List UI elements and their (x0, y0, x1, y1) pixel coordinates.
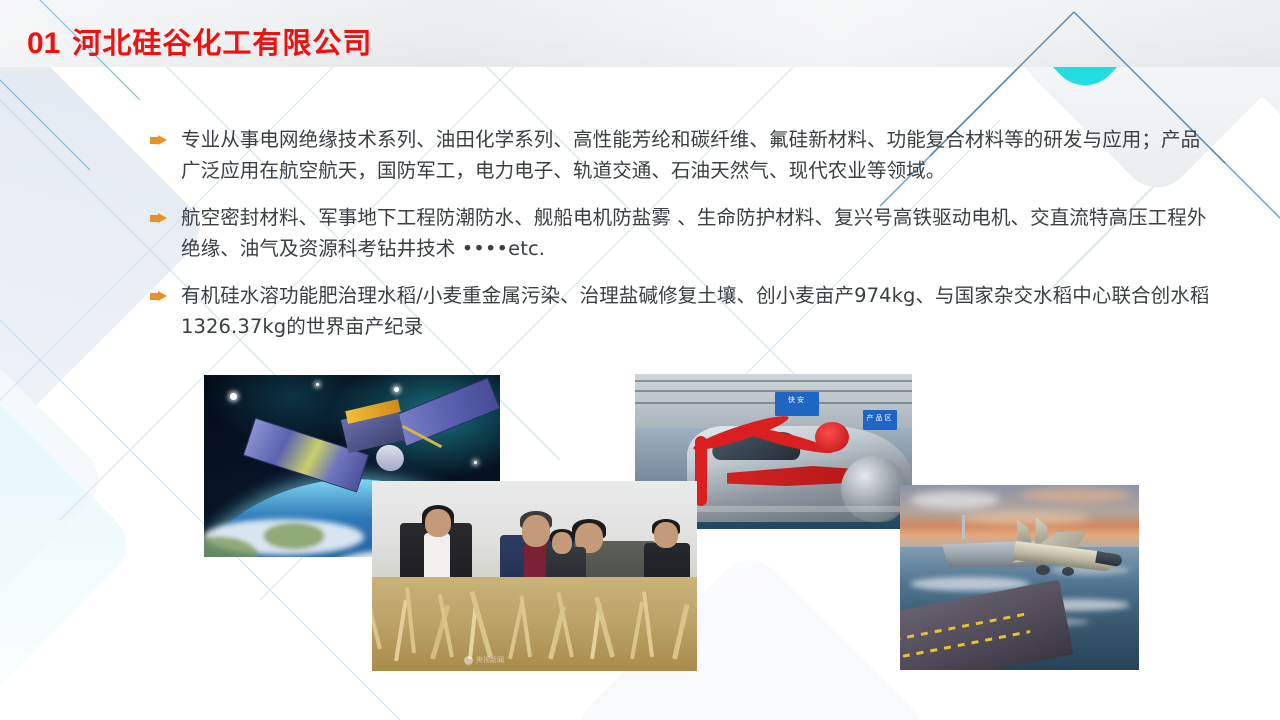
deck-centerline (900, 612, 1031, 642)
train-nose-dome (841, 456, 907, 522)
person-head (654, 522, 678, 548)
star-icon (230, 393, 237, 400)
factory-sign-label: 快安 (775, 392, 819, 405)
person-head (425, 509, 451, 537)
wheat-blade (672, 604, 689, 660)
ceiling-truss (635, 380, 912, 382)
ship-mast (962, 515, 965, 539)
wheat-blade (405, 587, 416, 653)
star-icon (474, 461, 477, 464)
wheat-blade (642, 591, 654, 657)
factory-sign: 产品区 (863, 410, 897, 430)
wheat-crop-field (372, 577, 697, 671)
ceiling-truss (635, 390, 912, 392)
person-head (552, 532, 572, 554)
factory-sign: 快安 (775, 392, 819, 416)
red-flower-decoration (815, 422, 849, 452)
rice-field-photo: 央视新闻 (372, 481, 697, 671)
fighter-jet (996, 517, 1116, 591)
jet-external-tank (1036, 565, 1050, 575)
watermark-logo-icon (464, 656, 473, 665)
slide-canvas: 01 河北硅谷化工有限公司 专业从事电网绝缘技术系列、油田化学系列、高性能芳纶和… (0, 0, 1280, 720)
ceiling-truss (635, 402, 912, 404)
aircraft-carrier-photo (900, 485, 1139, 670)
person-head (522, 515, 550, 547)
landmass (264, 523, 324, 549)
wheat-blade (394, 599, 408, 661)
star-icon (316, 383, 319, 386)
wheat-blade (630, 602, 644, 660)
watermark: 央视新闻 (464, 655, 504, 665)
watermark-label: 央视新闻 (476, 655, 504, 665)
jet-external-tank (1062, 567, 1074, 576)
factory-sign-label: 产品区 (863, 410, 897, 423)
star-icon (394, 387, 399, 392)
cloud (1020, 487, 1130, 503)
photo-collage: 快安 产品区 (0, 0, 1280, 720)
wheat-blade (519, 595, 532, 657)
cloud (910, 491, 1000, 509)
wheat-blade (372, 592, 382, 649)
